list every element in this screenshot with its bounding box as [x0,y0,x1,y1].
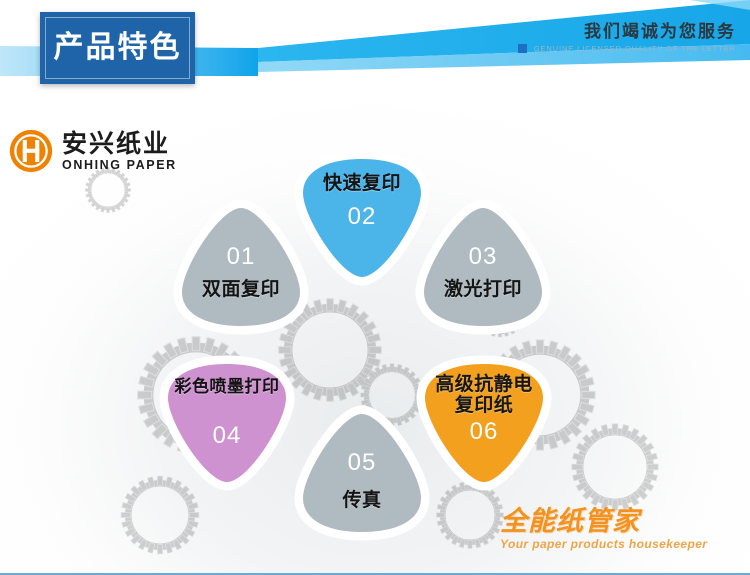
footer-brand-english: Your paper products housekeeper [500,538,707,550]
logo-name-english: ONHING PAPER [62,159,177,172]
tagline-square-icon [518,44,527,53]
footer-brand-chinese: 全能纸管家 [500,508,707,535]
badge-shape-03 [408,192,558,342]
feature-badge-06[interactable]: 高级抗静电 复印纸 06 [409,348,559,498]
page-header: 产品特色 我们竭诚为您服务 GENUINE LICENSED QUALITY O… [0,0,750,95]
badge-shape-06 [409,348,559,498]
logo-name-chinese: 安兴纸业 [62,131,177,156]
feature-badge-04[interactable]: 彩色喷墨打印 04 [152,348,302,498]
company-logo: 安兴纸业 ONHING PAPER [8,128,177,174]
feature-badge-03[interactable]: 03 激光打印 [408,192,558,342]
page-title: 产品特色 [40,33,195,63]
product-features-page: 产品特色 我们竭诚为您服务 GENUINE LICENSED QUALITY O… [0,0,750,575]
tagline-english: GENUINE LICENSED QUALITY OF THE LETTER [534,45,736,53]
tagline-chinese: 我们竭诚为您服务 [534,24,736,42]
footer-brand: 全能纸管家 Your paper products housekeeper [500,508,707,550]
page-title-box: 产品特色 [40,12,195,84]
logo-wordmark: 安兴纸业 ONHING PAPER [62,131,177,172]
badge-shape-04 [152,348,302,498]
onhing-h-mark-icon [8,128,54,174]
header-tagline: 我们竭诚为您服务 GENUINE LICENSED QUALITY OF THE… [534,24,736,53]
